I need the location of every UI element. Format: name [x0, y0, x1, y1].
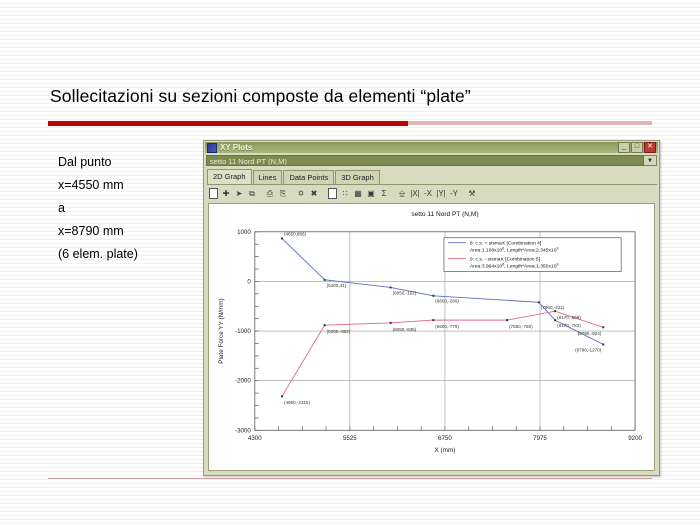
- chart-icon[interactable]: ▣: [365, 188, 377, 200]
- data-point-marker: [281, 237, 283, 239]
- grid-dots-icon[interactable]: ∷: [339, 188, 351, 200]
- table-icon[interactable]: ▦: [352, 188, 364, 200]
- y-axis-tick-label: -1000: [235, 328, 251, 335]
- data-point-marker: [538, 301, 540, 303]
- new-file-icon[interactable]: [207, 188, 219, 200]
- note-line-1: Dal punto: [58, 155, 138, 169]
- minimize-button[interactable]: _: [618, 142, 630, 153]
- data-point-marker: [324, 324, 326, 326]
- data-point-label: (4650,-2315): [284, 400, 311, 405]
- maximize-button[interactable]: □: [631, 142, 643, 153]
- note-line-3: a: [58, 201, 138, 215]
- title-underline-accent: [48, 121, 408, 126]
- export-icon[interactable]: ➤: [233, 188, 245, 200]
- y-axis-title: Plate Force YY (N/mm): [218, 298, 225, 363]
- y-axis-tick-label: 1000: [237, 229, 251, 236]
- curve-icon[interactable]: ⎒: [396, 188, 408, 200]
- data-point-label: (5200,-882): [327, 329, 351, 334]
- page-title: Sollecitazioni su sezioni composte da el…: [50, 86, 471, 107]
- data-point-marker: [602, 343, 604, 345]
- data-point-label: (5200,31): [327, 283, 347, 288]
- data-point-marker: [324, 279, 326, 281]
- data-point-marker: [390, 322, 392, 324]
- note-line-2: x=4550 mm: [58, 178, 138, 192]
- abs-x-icon[interactable]: |X|: [409, 188, 421, 200]
- x-axis-title: X (mm): [435, 447, 456, 454]
- page-icon[interactable]: [326, 188, 338, 200]
- sigma-icon[interactable]: Σ: [378, 188, 390, 200]
- legend-detail: Area:3.964x106, Length*Area:1.350x109: [470, 263, 559, 270]
- data-point-label: (8790,-924): [578, 331, 602, 336]
- data-point-marker: [506, 319, 508, 321]
- copy-plot-icon[interactable]: ⧉: [246, 188, 258, 200]
- data-point-marker: [554, 319, 556, 321]
- data-point-marker: [554, 310, 556, 312]
- note-line-4: x=8790 mm: [58, 224, 138, 238]
- tab-lines[interactable]: Lines: [253, 170, 283, 184]
- window-controls: _ □ ✕: [618, 142, 656, 153]
- footer-rule: [48, 478, 652, 479]
- data-point-marker: [602, 326, 604, 328]
- chevron-down-icon[interactable]: ▼: [644, 155, 657, 166]
- plot-selector[interactable]: setto 11 Nord PT (N,M) ▼: [206, 155, 657, 166]
- plot-panel: setto 11 Nord PT (N,M)10000-1000-2000-30…: [208, 203, 655, 471]
- neg-x-icon[interactable]: -X: [422, 188, 434, 200]
- add-plot-icon[interactable]: ✚: [220, 188, 232, 200]
- app-icon: [207, 143, 217, 153]
- data-point-label: (6050,-835): [393, 327, 417, 332]
- data-point-label: (8170,-599): [557, 315, 581, 320]
- tab-3d-graph[interactable]: 3D Graph: [335, 170, 380, 184]
- neg-y-icon[interactable]: -Y: [448, 188, 460, 200]
- x-axis-tick-label: 7975: [533, 435, 547, 442]
- x-axis-tick-label: 4300: [248, 435, 262, 442]
- data-point-label: (6600,-779): [435, 324, 459, 329]
- data-point-label: (6050,-122): [393, 290, 417, 295]
- x-axis-tick-label: 9200: [628, 435, 642, 442]
- data-point-label: (4650,866): [284, 231, 307, 236]
- tools-icon[interactable]: ⚒: [466, 188, 478, 200]
- abs-y-icon[interactable]: |Y|: [435, 188, 447, 200]
- data-point-label: (8170,-782): [557, 323, 581, 328]
- tab-data-points[interactable]: Data Points: [283, 170, 334, 184]
- data-point-label: (7550,-780): [509, 324, 533, 329]
- legend-label: 8: c.s. + sismaX [Combination 4]: [470, 241, 542, 247]
- print-icon[interactable]: ⎙: [264, 188, 276, 200]
- window-title: XY Plots: [220, 143, 618, 152]
- legend-detail: Area:1.108x106, Length*Area:2.345x109: [470, 247, 559, 254]
- data-point-marker: [281, 395, 283, 397]
- notes-block: Dal punto x=4550 mm a x=8790 mm (6 elem.…: [58, 155, 138, 270]
- note-line-5: (6 elem. plate): [58, 247, 138, 261]
- tab-2d-graph[interactable]: 2D Graph: [207, 169, 252, 184]
- data-point-label: (6600,-289): [435, 299, 459, 304]
- y-axis-tick-label: -2000: [235, 378, 251, 385]
- chart-title: setto 11 Nord PT (N,M): [411, 211, 478, 218]
- close-button[interactable]: ✕: [644, 142, 656, 153]
- delete-icon[interactable]: ✖: [308, 188, 320, 200]
- toolbar: ✚ ➤ ⧉ ⎙ ⎘ ✡ ✖ ∷ ▦ ▣ Σ ⎒ |X| -X |Y| -Y ⚒: [207, 187, 657, 200]
- data-point-marker: [432, 295, 434, 297]
- x-axis-tick-label: 6750: [438, 435, 452, 442]
- slide: Sollecitazioni su sezioni composte da el…: [0, 0, 700, 525]
- data-point-label: (8790,-1270): [575, 347, 602, 352]
- x-axis-tick-label: 5525: [343, 435, 357, 442]
- plot-selector-value[interactable]: setto 11 Nord PT (N,M): [206, 155, 644, 166]
- data-point-label: (7960,-421): [541, 305, 565, 310]
- print-preview-icon[interactable]: ⎘: [277, 188, 289, 200]
- data-point-marker: [432, 319, 434, 321]
- xy-plots-window: XY Plots _ □ ✕ setto 11 Nord PT (N,M) ▼ …: [203, 140, 660, 476]
- y-axis-tick-label: -3000: [235, 427, 251, 434]
- tab-bar: 2D Graph Lines Data Points 3D Graph: [207, 169, 657, 185]
- pencil-icon[interactable]: ✡: [295, 188, 307, 200]
- legend-label: 9: c.s. - sismaX [Combination 5]: [470, 257, 541, 263]
- y-axis-tick-label: 0: [247, 278, 251, 285]
- window-titlebar[interactable]: XY Plots _ □ ✕: [205, 142, 658, 153]
- data-point-marker: [390, 286, 392, 288]
- xy-plot-chart: setto 11 Nord PT (N,M)10000-1000-2000-30…: [209, 204, 654, 470]
